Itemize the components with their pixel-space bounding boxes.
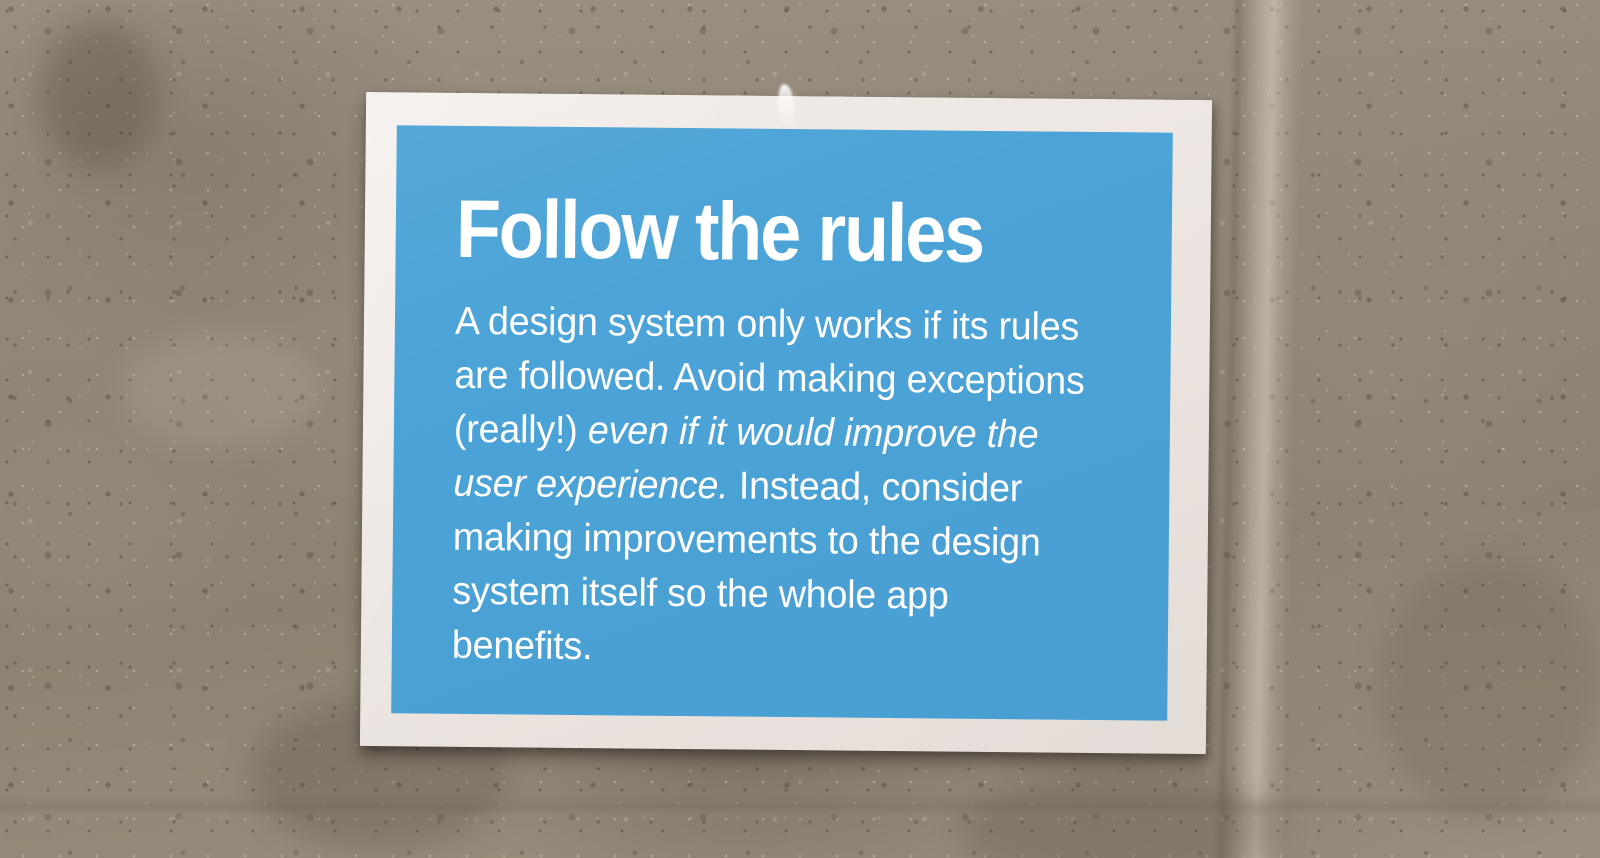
wall-horizontal-seam [0, 796, 1600, 822]
poster-content: Follow the rules A design system only wo… [452, 190, 1119, 680]
poster-blue-panel: Follow the rules A design system only wo… [391, 125, 1173, 720]
poster: Follow the rules A design system only wo… [360, 92, 1212, 754]
poster-title: Follow the rules [455, 190, 1052, 276]
poster-body-text: A design system only works if its rules … [452, 270, 1095, 679]
poster-paper: Follow the rules A design system only wo… [360, 92, 1212, 754]
photo-scene: Follow the rules A design system only wo… [0, 0, 1600, 858]
